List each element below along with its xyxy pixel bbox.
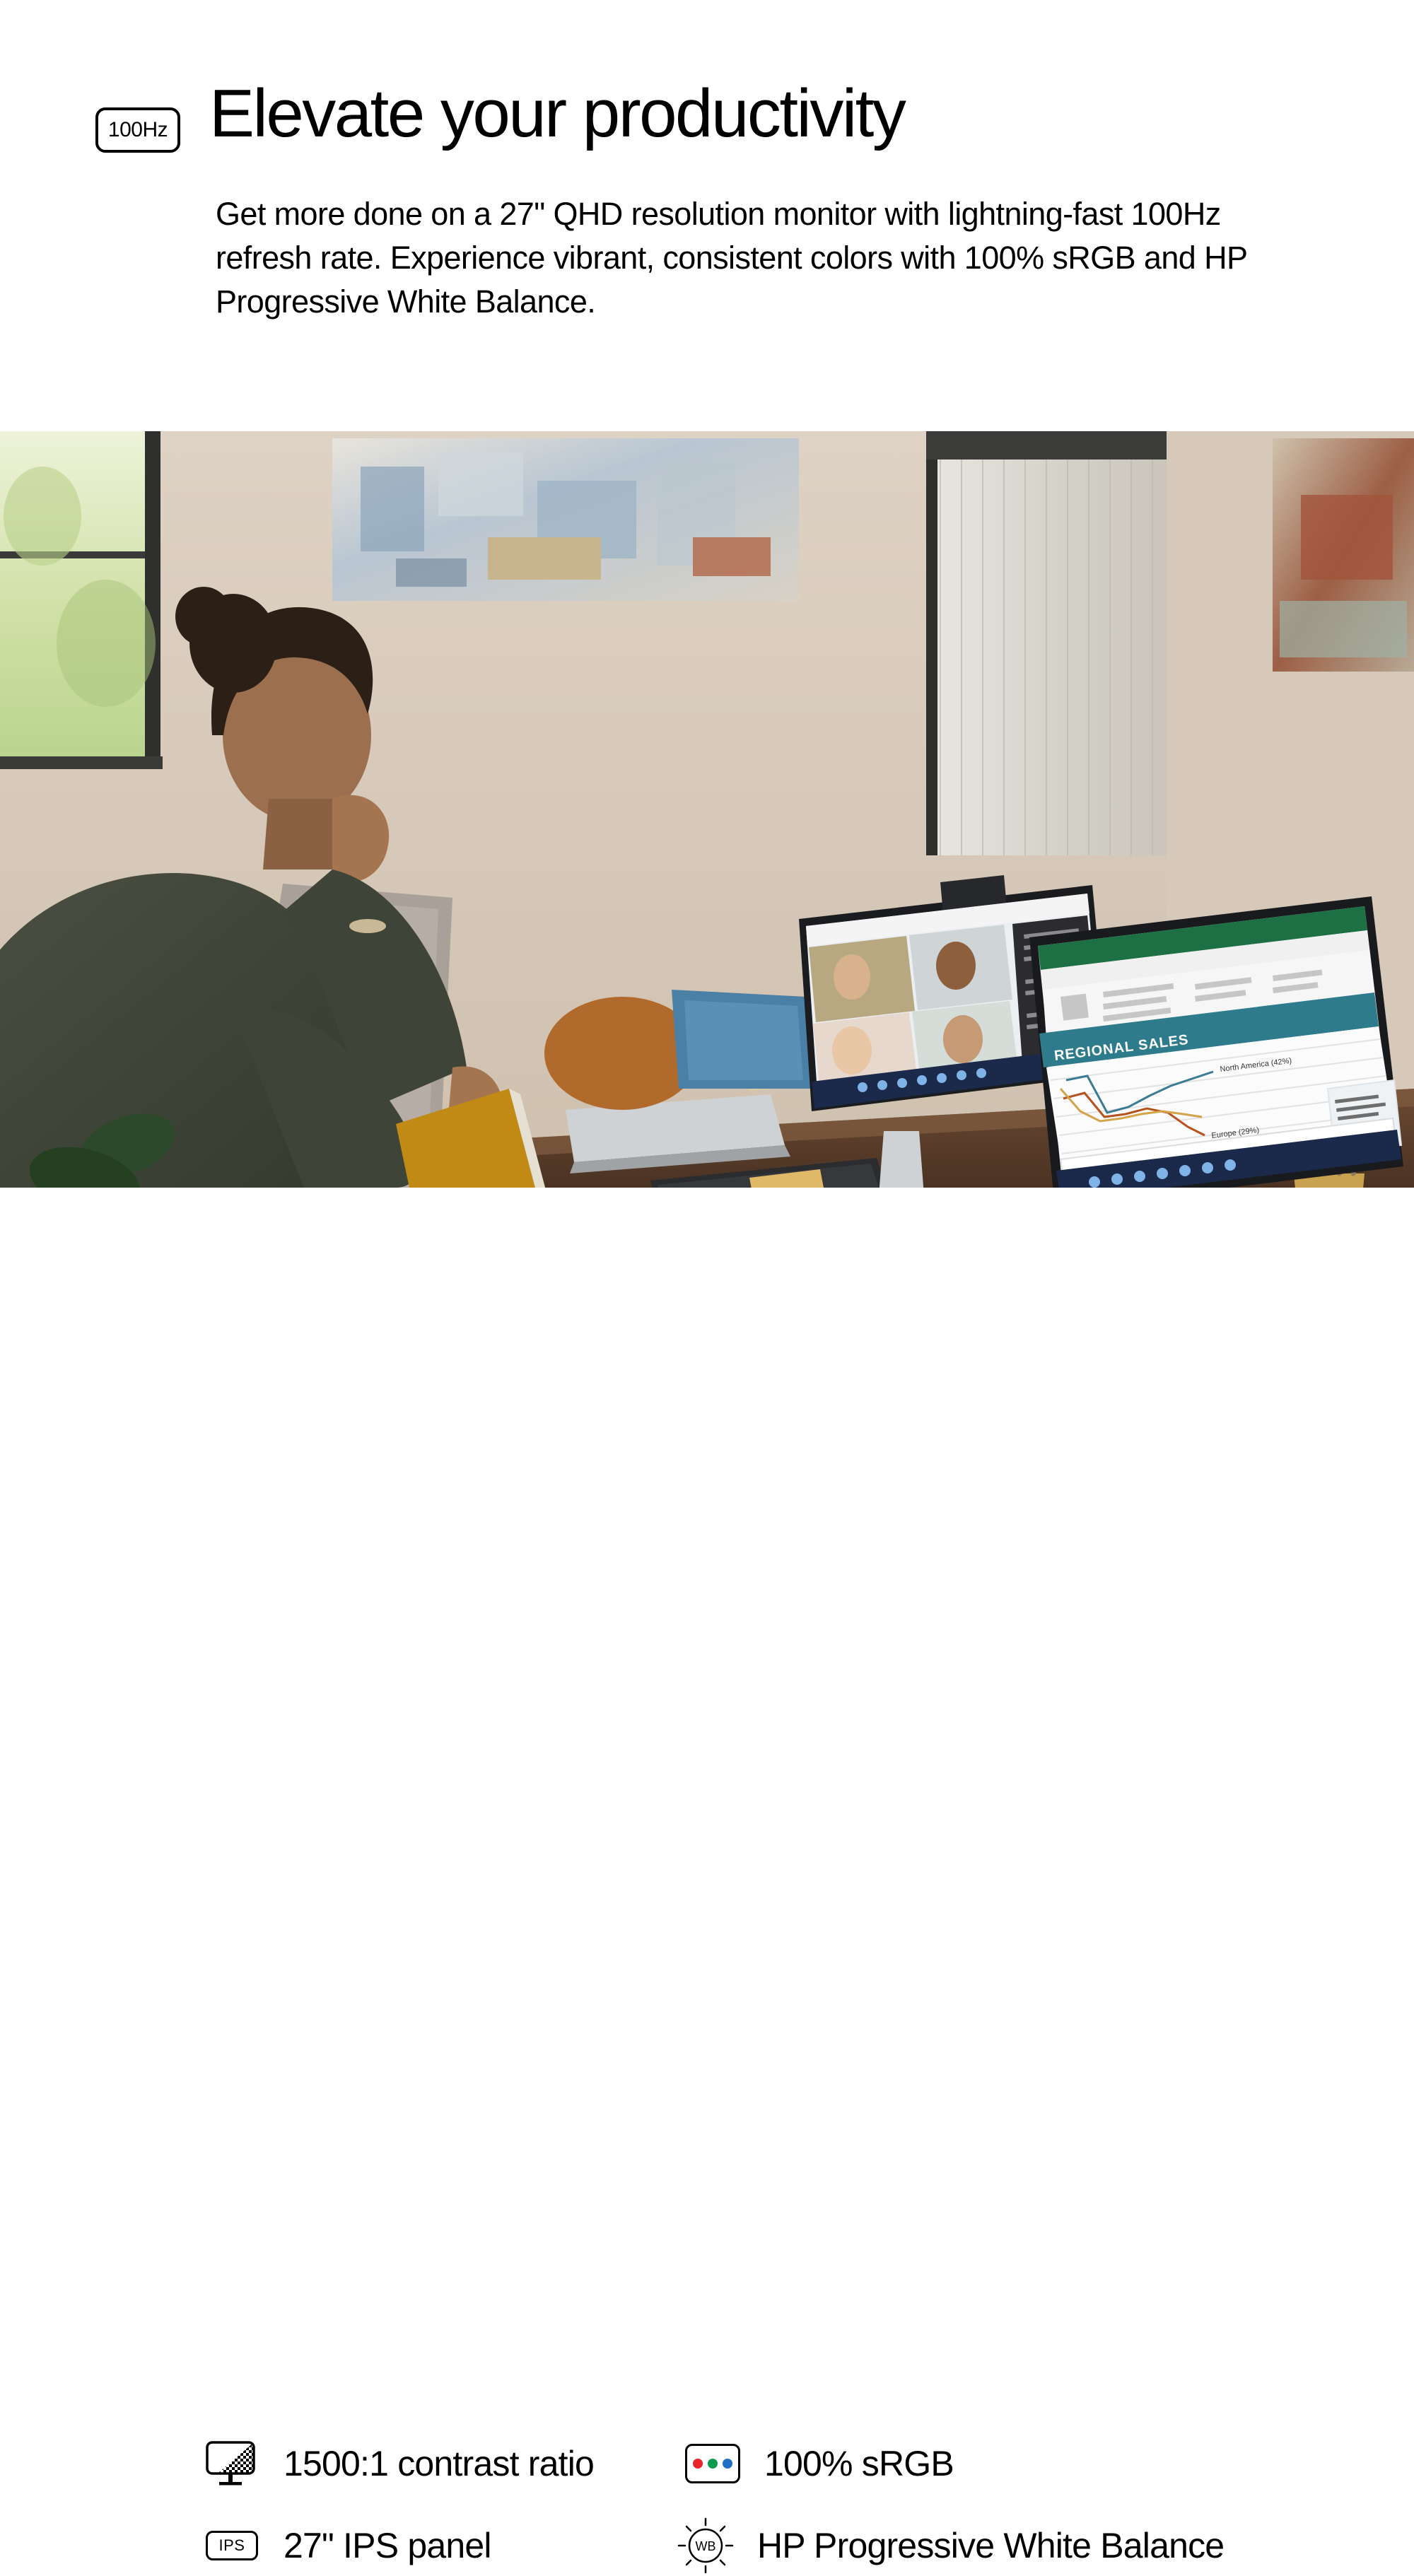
wb-chip-label: WB: [696, 2539, 716, 2553]
monitor-contrast-icon: [201, 2433, 262, 2494]
refresh-rate-badge-label: 100Hz: [108, 119, 168, 141]
feature-contrast-ratio: 1500:1 contrast ratio: [201, 2433, 594, 2494]
feature-white-balance-label: HP Progressive White Balance: [757, 2528, 1224, 2563]
feature-ips-panel: IPS 27" IPS panel: [201, 2515, 491, 2576]
srgb-chip: [685, 2444, 740, 2483]
ips-chip-label: IPS: [219, 2536, 245, 2555]
right-monitor: REGIONAL SALES: [1029, 896, 1403, 1188]
feature-contrast-ratio-label: 1500:1 contrast ratio: [284, 2446, 594, 2481]
srgb-dot-blue: [723, 2459, 732, 2469]
ips-panel-icon: IPS: [201, 2515, 262, 2576]
srgb-dots-icon: [682, 2433, 743, 2494]
page-subcopy: Get more done on a 27" QHD resolution mo…: [216, 192, 1262, 324]
hero-photo: REGIONAL SALES: [0, 431, 1414, 1188]
feature-srgb-label: 100% sRGB: [764, 2446, 954, 2481]
page-title: Elevate your productivity: [209, 79, 904, 148]
feature-white-balance: WB HP Progressive White Balance: [675, 2515, 1224, 2576]
feature-list: 1500:1 contrast ratio IPS 27" IPS panel …: [0, 1202, 1414, 1414]
white-balance-sun-icon: WB: [675, 2515, 736, 2576]
feature-srgb: 100% sRGB: [682, 2433, 954, 2494]
feature-ips-panel-label: 27" IPS panel: [284, 2528, 491, 2563]
srgb-dot-green: [708, 2459, 718, 2469]
ips-chip: IPS: [206, 2531, 258, 2560]
refresh-rate-badge: 100Hz: [95, 107, 180, 153]
header-section: 100Hz Elevate your productivity Get more…: [0, 0, 1414, 431]
hero-photo-illustration: REGIONAL SALES: [0, 431, 1414, 1188]
marketing-product-page: 100Hz Elevate your productivity Get more…: [0, 0, 1414, 1414]
srgb-dot-red: [693, 2459, 703, 2469]
